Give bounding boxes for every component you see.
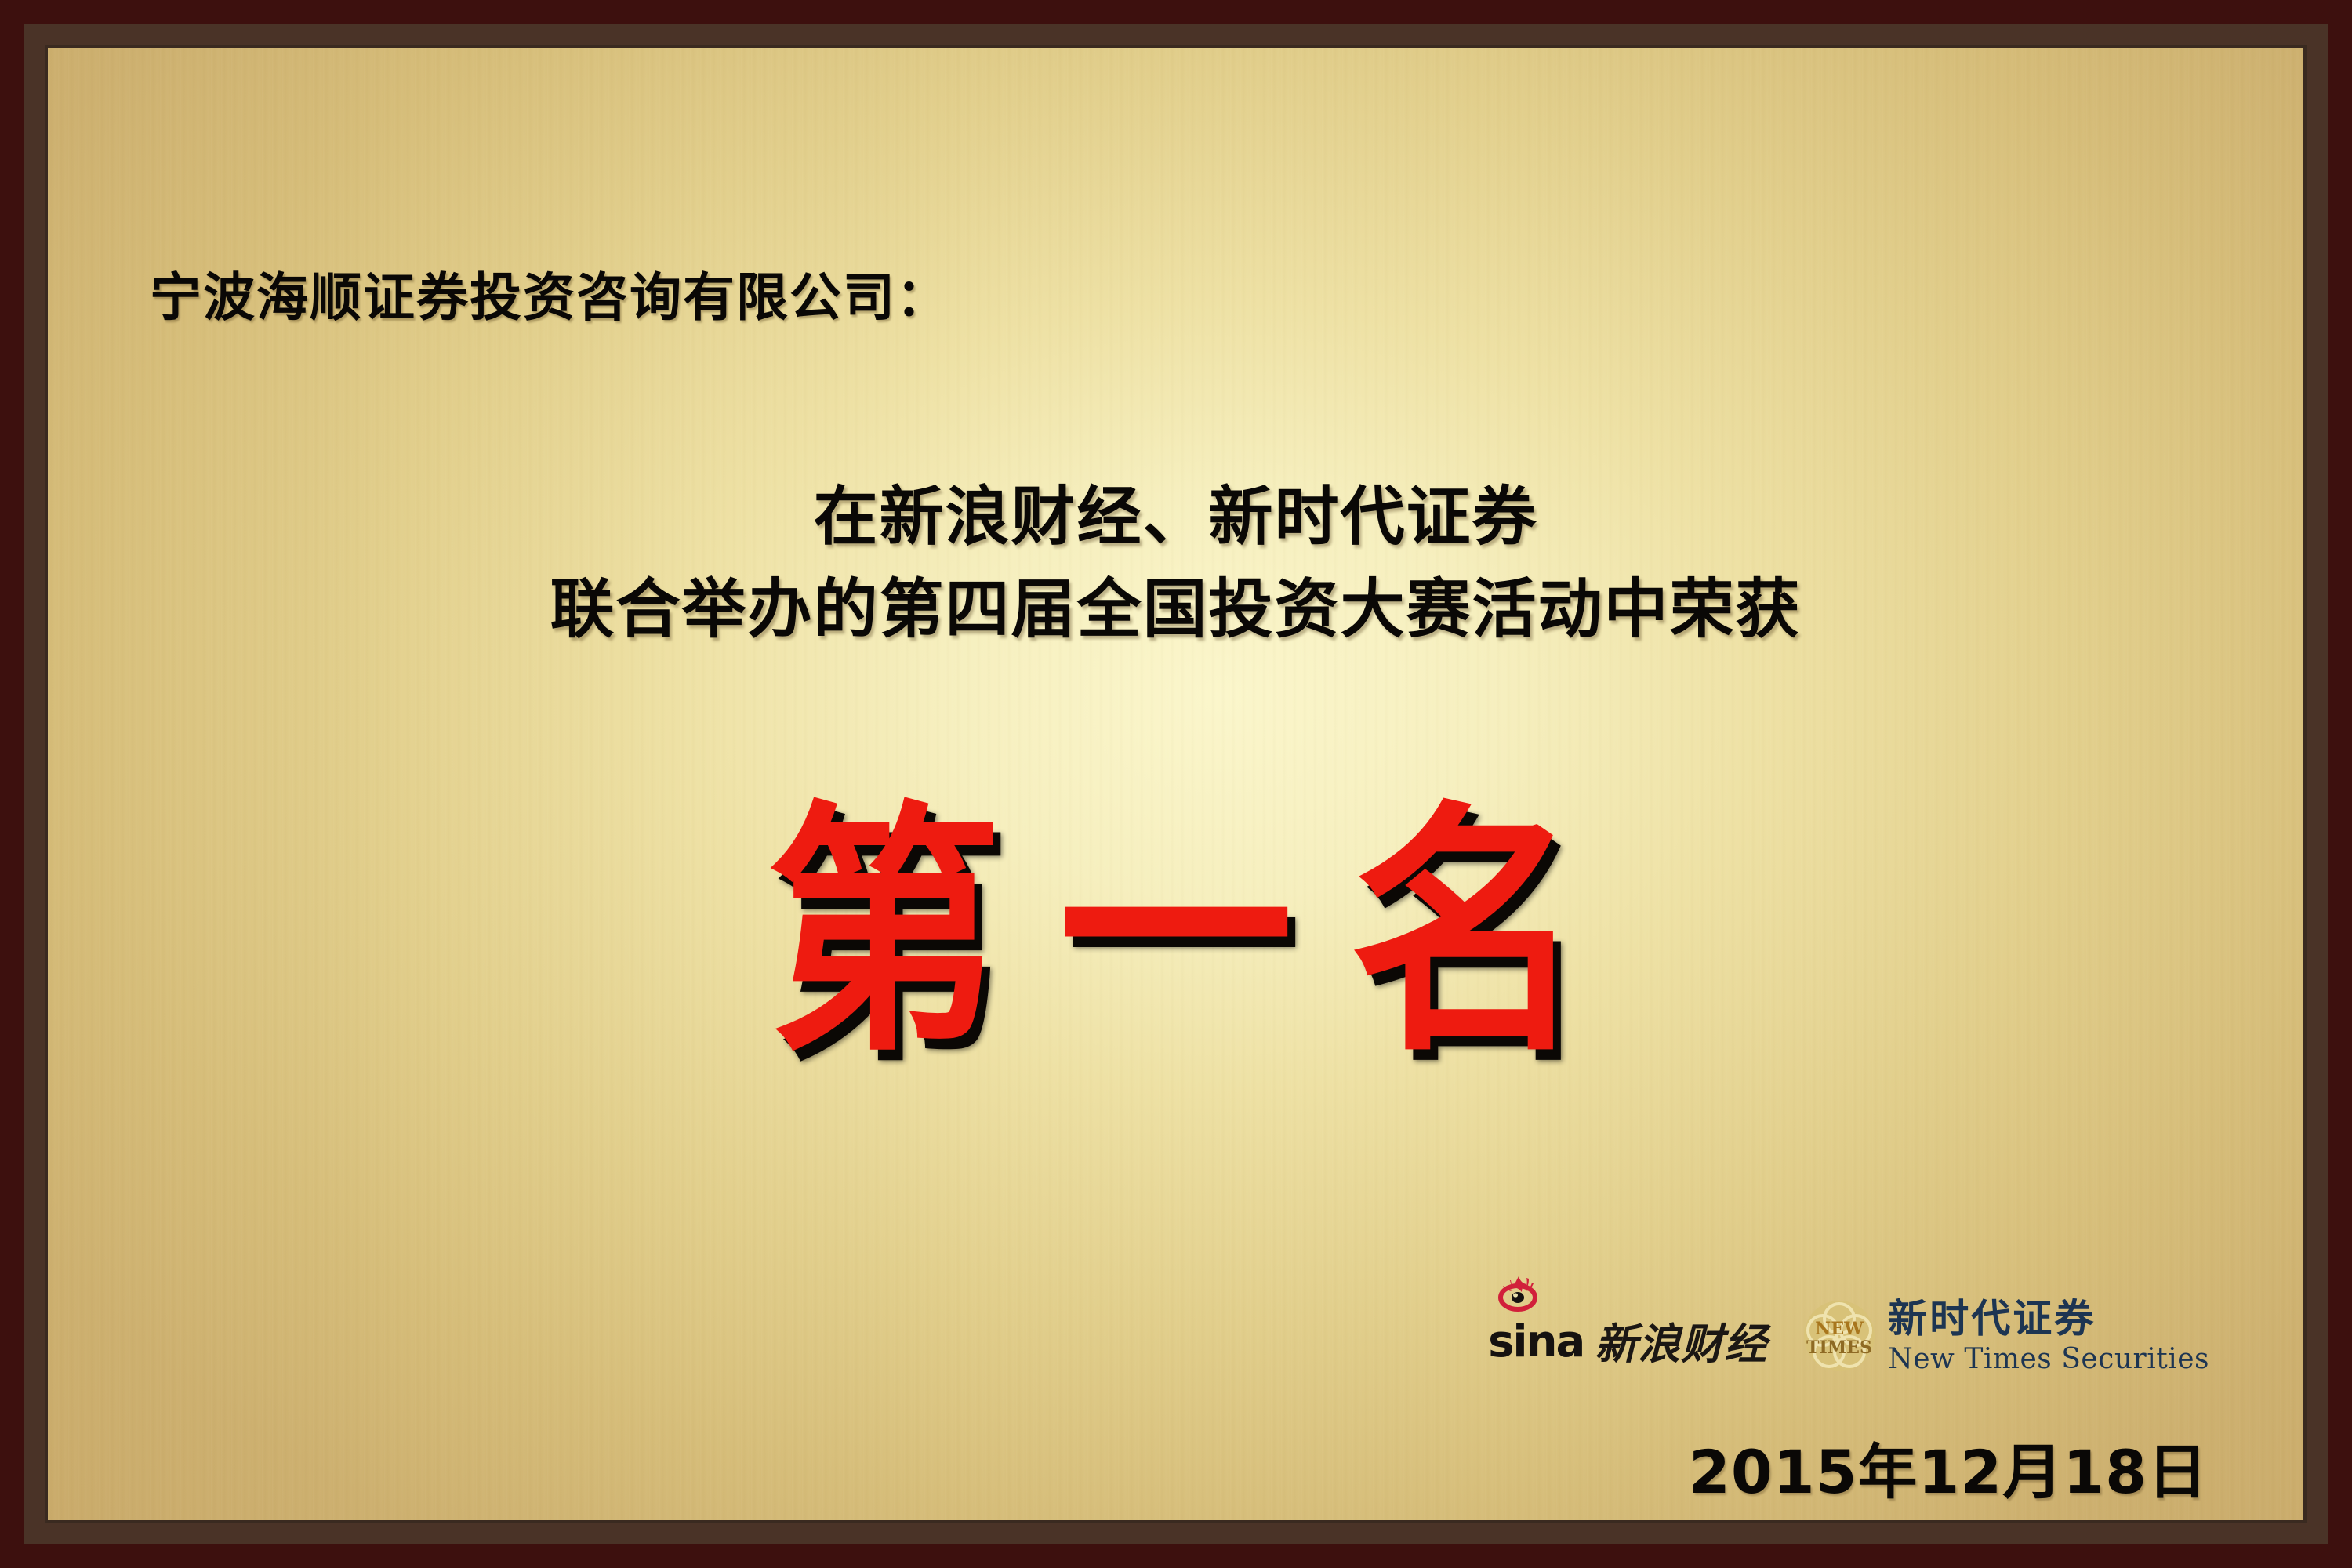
sponsor-logo-row: sina 新浪财经 bbox=[1488, 1298, 2209, 1374]
new-times-name-en: New Times Securities bbox=[1888, 1345, 2209, 1374]
sina-finance-logo: sina 新浪财经 bbox=[1488, 1301, 1767, 1371]
plaque-hairline-border: 宁波海顺证券投资咨询有限公司： 在新浪财经、新时代证券 联合举办的第四届全国投资… bbox=[45, 45, 2307, 1523]
new-times-text-block: 新时代证券 New Times Securities bbox=[1888, 1299, 2209, 1374]
citation-line-1: 在新浪财经、新时代证券 bbox=[48, 471, 2303, 564]
recipient-company-name: 宁波海顺证券投资咨询有限公司： bbox=[150, 256, 949, 331]
sina-wordmark: sina bbox=[1488, 1305, 1584, 1367]
sina-eye-icon bbox=[1494, 1273, 1543, 1314]
new-times-name-cn: 新时代证券 bbox=[1888, 1299, 2209, 1338]
citation-line-2: 联合举办的第四届全国投资大赛活动中荣获 bbox=[48, 564, 2303, 656]
plaque-content: 宁波海顺证券投资咨询有限公司： 在新浪财经、新时代证券 联合举办的第四届全国投资… bbox=[48, 48, 2303, 1520]
svg-text:NEW: NEW bbox=[1815, 1319, 1864, 1339]
svg-text:TIMES: TIMES bbox=[1806, 1338, 1872, 1358]
plaque-gold-surface: 宁波海顺证券投资咨询有限公司： 在新浪财经、新时代证券 联合举办的第四届全国投资… bbox=[48, 48, 2303, 1520]
award-rank-text: 第一名 bbox=[48, 800, 2303, 1064]
plaque-outer-frame: 宁波海顺证券投资咨询有限公司： 在新浪财经、新时代证券 联合举办的第四届全国投资… bbox=[0, 0, 2352, 1568]
new-times-emblem-icon: NEW TIMES bbox=[1802, 1298, 1877, 1374]
sina-finance-name-cn: 新浪财经 bbox=[1595, 1301, 1767, 1371]
award-date: 2015年12月18日 bbox=[1689, 1424, 2208, 1510]
new-times-securities-logo: NEW TIMES 新时代证券 New Times Securities bbox=[1802, 1298, 2209, 1374]
plaque-inner-bevel: 宁波海顺证券投资咨询有限公司： 在新浪财经、新时代证券 联合举办的第四届全国投资… bbox=[24, 24, 2328, 1544]
citation-block: 在新浪财经、新时代证券 联合举办的第四届全国投资大赛活动中荣获 bbox=[48, 471, 2303, 656]
